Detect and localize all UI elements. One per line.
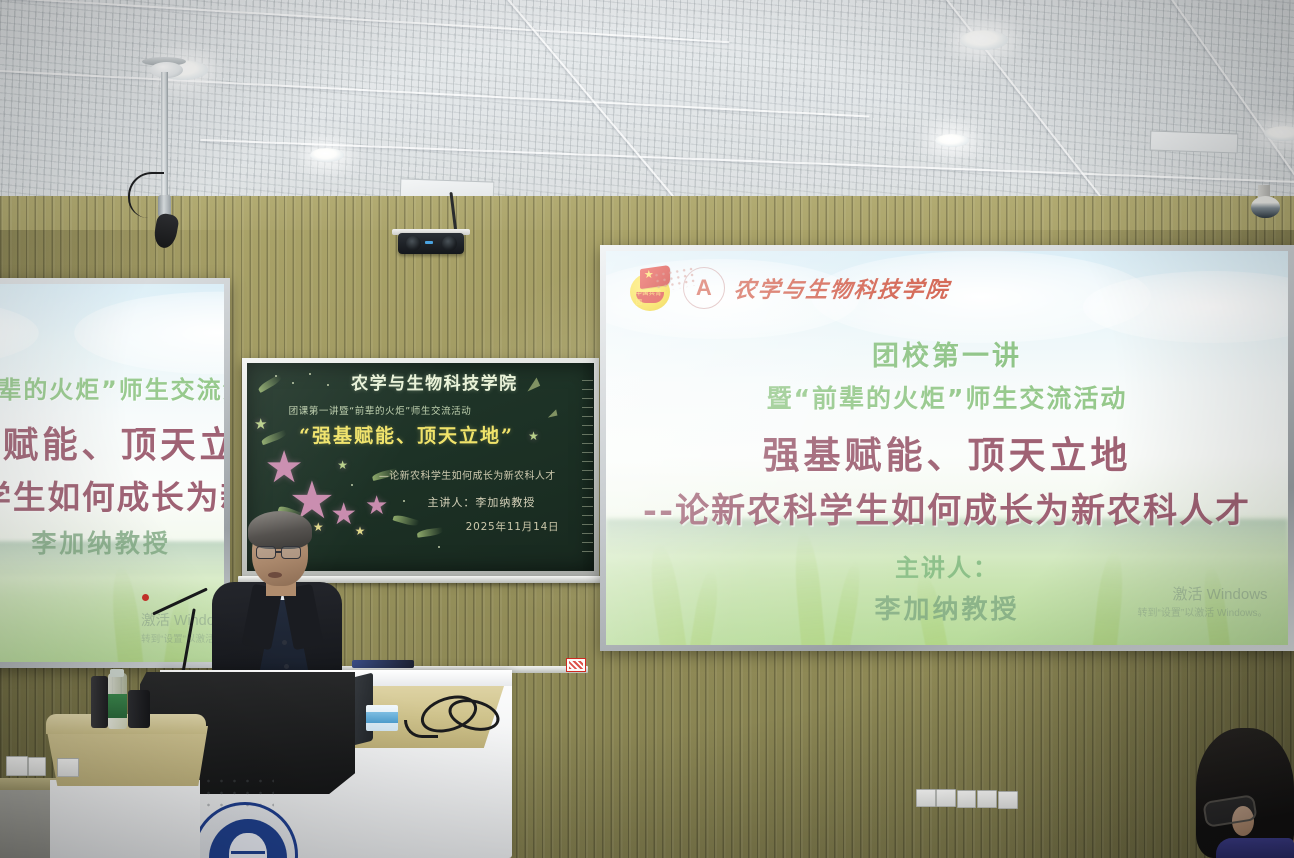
ceiling-downlight <box>310 148 344 162</box>
wall-outlet[interactable] <box>57 758 79 777</box>
presenter-mouth <box>268 572 282 578</box>
presenter-button <box>282 640 287 645</box>
watermark-title: 激活 Windows <box>1138 584 1268 607</box>
left-slide-speaker-name: 李加纳教授 <box>0 524 224 560</box>
presentation-slide: ★ 中国共青团 A 农学与生物科技学院 团校第一讲 暨“前辈的火炬”师生交流活动… <box>606 251 1288 645</box>
wall-outlet[interactable] <box>936 789 956 807</box>
seal-letter: A <box>696 277 712 299</box>
podium-side-base <box>50 780 200 858</box>
slide-cloud <box>0 300 38 367</box>
slide-subtitle-2: 暨“前辈的火炬”师生交流活动 <box>606 379 1288 415</box>
warning-sign-pattern <box>569 661 583 669</box>
presenter-hair <box>248 511 312 549</box>
projector-indicator-led <box>425 241 433 244</box>
wall-outlet[interactable] <box>916 789 936 807</box>
ceiling-downlight <box>935 134 969 147</box>
presenter-button <box>284 664 289 669</box>
slide-date: 2025年11月14日 <box>606 642 1288 645</box>
emblem-bar <box>231 851 265 854</box>
main-screen-surface: ★ 中国共青团 A 农学与生物科技学院 团校第一讲 暨“前辈的火炬”师生交流活动… <box>606 251 1288 645</box>
slide-speaker-label: 主讲人： <box>606 548 1288 583</box>
left-slide-subtitle-2: 暨“前辈的火炬”师生交流活动 <box>0 372 224 407</box>
windows-activation-watermark: 激活 Windows 转到“设置”以激活 Windows。 <box>1138 584 1268 622</box>
left-screen-surface: 暨“前辈的火炬”师生交流活动 强基赋能、顶天立地 --论新农科学生如何成长为新农… <box>0 284 224 662</box>
presenter-glasses-bridge <box>275 551 282 553</box>
presenter-glasses-left-lens <box>256 546 276 559</box>
wall-outlet[interactable] <box>998 791 1018 809</box>
lecture-hall-scene: 暨“前辈的火炬”师生交流活动 强基赋能、顶天立地 --论新农科学生如何成长为新农… <box>0 0 1294 858</box>
wall-outlet[interactable] <box>28 757 46 776</box>
wall-outlet[interactable] <box>6 756 28 776</box>
ceiling-downlight <box>960 30 1008 50</box>
ceiling-projector <box>398 233 464 254</box>
dark-cylinder-object <box>91 676 108 728</box>
main-projection-screen[interactable]: ★ 中国共青团 A 农学与生物科技学院 团校第一讲 暨“前辈的火炬”师生交流活动… <box>600 245 1294 651</box>
slide-header: ★ 中国共青团 A 农学与生物科技学院 <box>628 265 950 311</box>
left-slide: 暨“前辈的火炬”师生交流活动 强基赋能、顶天立地 --论新农科学生如何成长为新农… <box>0 284 224 662</box>
red-warning-sign <box>566 658 586 672</box>
water-bottle-label <box>108 694 127 718</box>
water-bottle-cap <box>110 669 124 677</box>
tray-object <box>352 660 414 668</box>
watermark-subtitle: 转到“设置”以激活 Windows。 <box>1138 606 1268 621</box>
audience-member-shoulder <box>1216 838 1294 858</box>
slide-subtitle-1: 团校第一讲 <box>606 334 1288 373</box>
presenter-glasses-right-lens <box>281 546 301 559</box>
dome-security-camera <box>1251 196 1280 218</box>
slide-cloud <box>74 292 224 375</box>
projector-lens <box>406 236 421 251</box>
left-slide-text-block: 暨“前辈的火炬”师生交流活动 强基赋能、顶天立地 --论新农科学生如何成长为新农… <box>0 366 224 560</box>
podium-microphone-tip <box>142 594 149 601</box>
ceiling-air-vent <box>1150 130 1239 153</box>
podium-side-apron <box>46 726 208 786</box>
left-slide-title-2: --论新农科学生如何成长为新农科人才 <box>0 471 224 518</box>
college-name-calligraphy: 农学与生物科技学院 <box>732 272 951 304</box>
tissue-box-label <box>366 712 398 723</box>
wall-outlet[interactable] <box>977 790 997 808</box>
slide-title-line-1: 强基赋能、顶天立地 <box>606 425 1288 479</box>
wall-outlet[interactable] <box>957 790 976 808</box>
projector-speaker <box>442 236 457 251</box>
slide-title-line-2: --论新农科学生如何成长为新农科人才 <box>606 483 1288 532</box>
emblem-band-text: 中国共青团 <box>636 292 664 303</box>
dark-object-on-ledge <box>128 690 150 728</box>
left-slide-title-1: 强基赋能、顶天立地 <box>0 416 224 468</box>
